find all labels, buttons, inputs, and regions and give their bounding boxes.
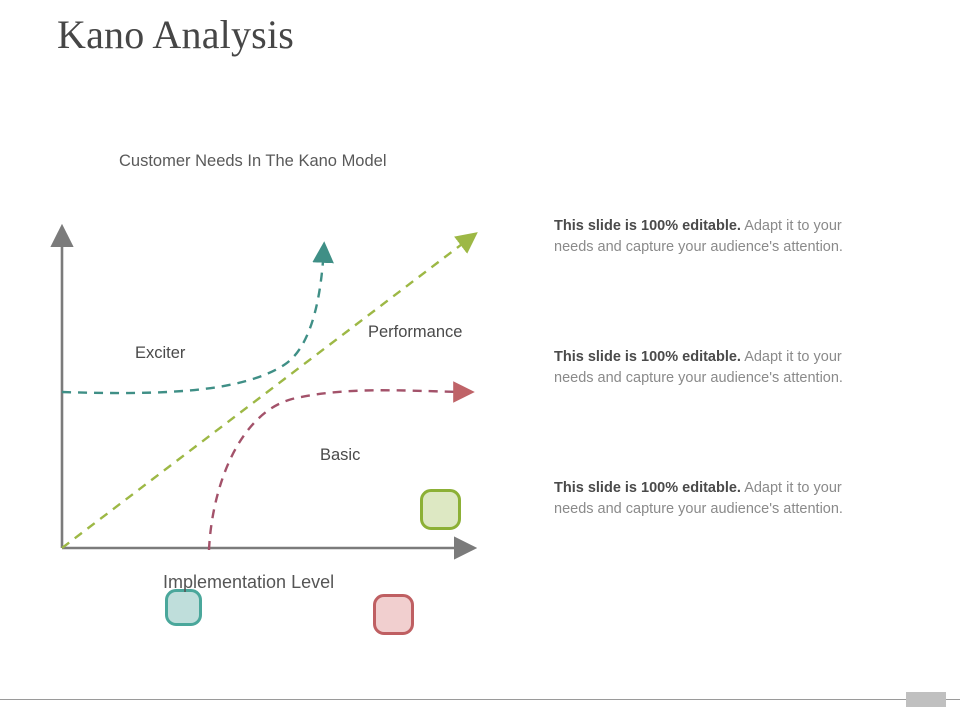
marker-performance[interactable] (420, 489, 461, 530)
kano-chart (40, 215, 540, 605)
series-label-performance: Performance (368, 322, 462, 342)
body-text-lead-1: This slide is 100% editable. (554, 218, 741, 234)
series-line-performance (62, 235, 474, 548)
body-text-lead-2: This slide is 100% editable. (554, 349, 741, 365)
page-title: Kano Analysis (57, 12, 294, 58)
series-label-exciter: Exciter (135, 343, 185, 363)
series-line-exciter (62, 246, 324, 393)
body-text-lead-3: This slide is 100% editable. (554, 480, 741, 496)
x-axis-label: Implementation Level (163, 570, 334, 594)
footer-badge[interactable] (906, 692, 946, 707)
marker-basic[interactable] (373, 594, 414, 635)
slide-canvas: Kano Analysis Customer Needs In The Kano… (0, 0, 960, 720)
series-label-basic: Basic (320, 445, 360, 465)
body-text-block-1: This slide is 100% editable. Adapt it to… (554, 216, 866, 257)
chart-title: Customer Needs In The Kano Model (119, 150, 387, 172)
body-text-block-3: This slide is 100% editable. Adapt it to… (554, 478, 866, 519)
body-text-block-2: This slide is 100% editable. Adapt it to… (554, 347, 866, 388)
footer-divider (0, 699, 960, 700)
chart-plot-svg (40, 215, 540, 605)
marker-exciter[interactable] (165, 589, 202, 626)
